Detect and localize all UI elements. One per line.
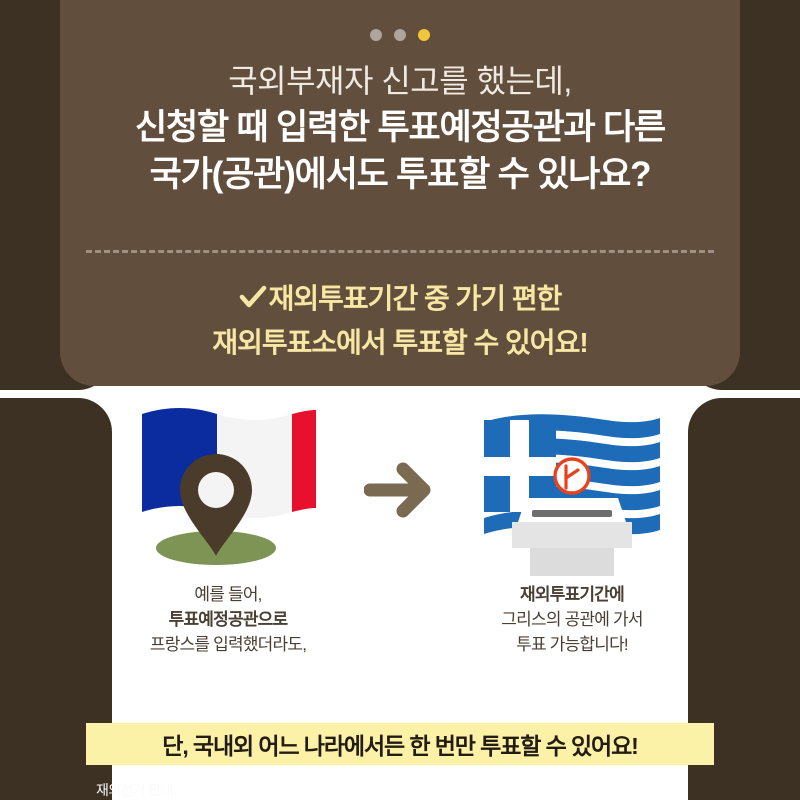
answer-line-2: 재외투표소에서 투표할 수 있어요! bbox=[80, 322, 720, 364]
caption-left-line-1: 예를 들어, bbox=[112, 582, 344, 607]
answer-line-1-text: 재외투표기간 중 가기 편한 bbox=[269, 283, 562, 314]
answer-block: 재외투표기간 중 가기 편한 재외투표소에서 투표할 수 있어요! bbox=[60, 278, 740, 364]
caption-right: 재외투표기간에 그리스의 공관에 가서 투표 가능합니다! bbox=[456, 582, 688, 657]
question-line-1: 국외부재자 신고를 했는데, bbox=[74, 58, 726, 104]
footer-cut-off-text: 재외선거 안내 bbox=[96, 781, 396, 800]
vote-stamp bbox=[555, 459, 589, 493]
caption-right-line-1: 재외투표기간에 bbox=[456, 582, 688, 607]
check-icon bbox=[239, 280, 267, 322]
question-line-2: 신청할 때 입력한 투표예정공관과 다른 bbox=[74, 104, 726, 151]
caption-right-line-2: 그리스의 공관에 가서 bbox=[456, 607, 688, 632]
dashed-divider bbox=[86, 250, 714, 253]
question-line-3: 국가(공관)에서도 투표할 수 있나요? bbox=[74, 151, 726, 198]
question-text: 국외부재자 신고를 했는데, 신청할 때 입력한 투표예정공관과 다른 국가(공… bbox=[60, 58, 740, 198]
pager-dot-2[interactable] bbox=[394, 29, 406, 41]
illustration-left: 예를 들어, 투표예정공관으로 프랑스를 입력했더라도, bbox=[112, 400, 344, 657]
answer-line-1: 재외투표기간 중 가기 편한 bbox=[80, 278, 720, 322]
caption-left-line-2: 투표예정공관으로 bbox=[112, 607, 344, 632]
caption-left-line-3: 프랑스를 입력했더라도, bbox=[112, 632, 344, 657]
highlight-banner-text: 단, 국내외 어느 나라에서든 한 번만 투표할 수 있어요! bbox=[162, 727, 637, 761]
ballot-box bbox=[512, 498, 632, 576]
greece-scene bbox=[456, 400, 688, 580]
arrow-right-icon bbox=[350, 400, 450, 580]
highlight-banner: 단, 국내외 어느 나라에서든 한 번만 투표할 수 있어요! bbox=[86, 723, 714, 765]
pager-dot-3[interactable] bbox=[418, 29, 430, 41]
infographic-card: 국외부재자 신고를 했는데, 신청할 때 입력한 투표예정공관과 다른 국가(공… bbox=[0, 0, 800, 800]
caption-right-line-3: 투표 가능합니다! bbox=[456, 632, 688, 657]
illustration-right: 재외투표기간에 그리스의 공관에 가서 투표 가능합니다! bbox=[456, 400, 688, 657]
france-scene bbox=[112, 400, 344, 580]
caption-left: 예를 들어, 투표예정공관으로 프랑스를 입력했더라도, bbox=[112, 582, 344, 657]
illustration-band: 예를 들어, 투표예정공관으로 프랑스를 입력했더라도, bbox=[112, 400, 688, 710]
pager-dots bbox=[60, 29, 740, 41]
pager-dot-1[interactable] bbox=[370, 29, 382, 41]
question-card: 국외부재자 신고를 했는데, 신청할 때 입력한 투표예정공관과 다른 국가(공… bbox=[60, 0, 740, 386]
